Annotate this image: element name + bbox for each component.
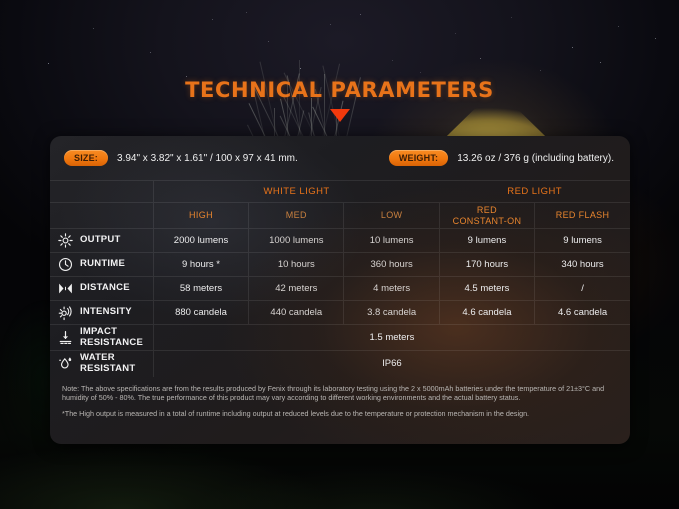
page-title: TECHNICAL PARAMETERS <box>0 78 679 102</box>
table-row-distance: DISTANCE 58 meters 42 meters 4 meters 4.… <box>50 277 630 301</box>
row-label-cell-distance: DISTANCE <box>50 277 153 301</box>
cell-output-med: 1000 lumens <box>249 229 344 253</box>
group-header-white-light: WHITE LIGHT <box>153 181 439 203</box>
cell-intensity-high: 880 candela <box>153 301 248 325</box>
mode-header-low: LOW <box>344 203 439 229</box>
cell-distance-red-flash: / <box>535 277 630 301</box>
group-header-spacer <box>50 181 153 203</box>
size-group: SIZE: 3.94" x 3.82" x 1.61" / 100 x 97 x… <box>64 150 298 166</box>
table-row-water-resistant: WATER RESISTANT IP66 <box>50 351 630 377</box>
footnote-paragraph-2: *The High output is measured in a total … <box>62 409 618 419</box>
mode-header-red-constant-on-line1: RED <box>477 205 497 215</box>
technical-parameters-panel: SIZE: 3.94" x 3.82" x 1.61" / 100 x 97 x… <box>50 136 630 444</box>
mode-header-med: MED <box>249 203 344 229</box>
cell-water-resistant-value: IP66 <box>153 351 630 377</box>
table-group-header-row: WHITE LIGHT RED LIGHT <box>50 181 630 203</box>
size-weight-row: SIZE: 3.94" x 3.82" x 1.61" / 100 x 97 x… <box>50 136 630 180</box>
sun-icon <box>57 232 74 249</box>
weight-group: WEIGHT: 13.26 oz / 376 g (including batt… <box>389 150 614 166</box>
cell-runtime-red-flash: 340 hours <box>535 253 630 277</box>
beam-distance-icon <box>57 280 74 297</box>
row-label-intensity: INTENSITY <box>50 304 153 321</box>
table-row-intensity: INTENSITY 880 candela 440 candela 3.8 ca… <box>50 301 630 325</box>
row-label-distance-text: DISTANCE <box>80 283 130 294</box>
cell-output-low: 10 lumens <box>344 229 439 253</box>
table-mode-header-row: HIGH MED LOW RED CONSTANT-ON RED FLASH <box>50 203 630 229</box>
cell-output-high: 2000 lumens <box>153 229 248 253</box>
row-label-water-resistant: WATER RESISTANT <box>50 353 153 374</box>
cell-runtime-low: 360 hours <box>344 253 439 277</box>
row-label-water-line2: RESISTANT <box>80 364 135 375</box>
cell-distance-high: 58 meters <box>153 277 248 301</box>
size-value: 3.94" x 3.82" x 1.61" / 100 x 97 x 41 mm… <box>117 153 298 164</box>
row-label-water-resistant-text: WATER RESISTANT <box>80 353 135 374</box>
row-label-cell-water-resistant: WATER RESISTANT <box>50 351 153 377</box>
cell-output-red-flash: 9 lumens <box>535 229 630 253</box>
clock-icon <box>57 256 74 273</box>
cell-runtime-med: 10 hours <box>249 253 344 277</box>
cell-runtime-high: 9 hours * <box>153 253 248 277</box>
size-badge: SIZE: <box>64 150 108 166</box>
footnote-paragraph-1: Note: The above specifications are from … <box>62 384 618 404</box>
chevron-down-icon-wrap <box>0 102 679 127</box>
impact-resistance-icon <box>57 329 74 346</box>
water-drop-icon <box>57 355 74 372</box>
row-label-impact-resistance: IMPACT RESISTANCE <box>50 327 153 348</box>
mode-header-spacer <box>50 203 153 229</box>
row-label-cell-intensity: INTENSITY <box>50 301 153 325</box>
mode-header-red-constant-on: RED CONSTANT-ON <box>439 203 534 229</box>
row-label-output: OUTPUT <box>50 232 153 249</box>
cell-intensity-red-flash: 4.6 candela <box>535 301 630 325</box>
row-label-runtime: RUNTIME <box>50 256 153 273</box>
cell-intensity-red-constant-on: 4.6 candela <box>439 301 534 325</box>
cell-runtime-red-constant-on: 170 hours <box>439 253 534 277</box>
row-label-runtime-text: RUNTIME <box>80 259 125 270</box>
row-label-impact-line1: IMPACT <box>80 326 117 337</box>
cell-distance-red-constant-on: 4.5 meters <box>439 277 534 301</box>
row-label-water-line1: WATER <box>80 352 115 363</box>
row-label-cell-impact-resistance: IMPACT RESISTANCE <box>50 325 153 351</box>
mode-header-red-constant-on-line2: CONSTANT-ON <box>453 216 522 226</box>
footnote-block: Note: The above specifications are from … <box>50 377 630 419</box>
cell-impact-resistance-value: 1.5 meters <box>153 325 630 351</box>
cell-output-red-constant-on: 9 lumens <box>439 229 534 253</box>
row-label-impact-resistance-text: IMPACT RESISTANCE <box>80 327 143 348</box>
table-row-impact-resistance: IMPACT RESISTANCE 1.5 meters <box>50 325 630 351</box>
table-row-runtime: RUNTIME 9 hours * 10 hours 360 hours 170… <box>50 253 630 277</box>
row-label-cell-runtime: RUNTIME <box>50 253 153 277</box>
row-label-cell-output: OUTPUT <box>50 229 153 253</box>
screenshot-stage: marmot TECHNICAL PARAMETERS SIZE: 3.94" … <box>0 0 679 509</box>
row-label-distance: DISTANCE <box>50 280 153 297</box>
group-header-red-light: RED LIGHT <box>439 181 630 203</box>
row-label-intensity-text: INTENSITY <box>80 307 132 318</box>
mode-header-red-flash: RED FLASH <box>535 203 630 229</box>
cell-intensity-low: 3.8 candela <box>344 301 439 325</box>
table-row-output: OUTPUT 2000 lumens 1000 lumens 10 lumens… <box>50 229 630 253</box>
mode-header-high: HIGH <box>153 203 248 229</box>
row-label-output-text: OUTPUT <box>80 235 121 246</box>
cell-distance-low: 4 meters <box>344 277 439 301</box>
row-label-impact-line2: RESISTANCE <box>80 338 143 349</box>
specifications-table: WHITE LIGHT RED LIGHT HIGH MED LOW RED C… <box>50 180 630 377</box>
weight-value: 13.26 oz / 376 g (including battery). <box>457 153 614 164</box>
weight-badge: WEIGHT: <box>389 150 448 166</box>
chevron-down-icon <box>330 109 350 122</box>
page-header: TECHNICAL PARAMETERS <box>0 78 679 127</box>
cell-distance-med: 42 meters <box>249 277 344 301</box>
intensity-icon <box>57 304 74 321</box>
cell-intensity-med: 440 candela <box>249 301 344 325</box>
